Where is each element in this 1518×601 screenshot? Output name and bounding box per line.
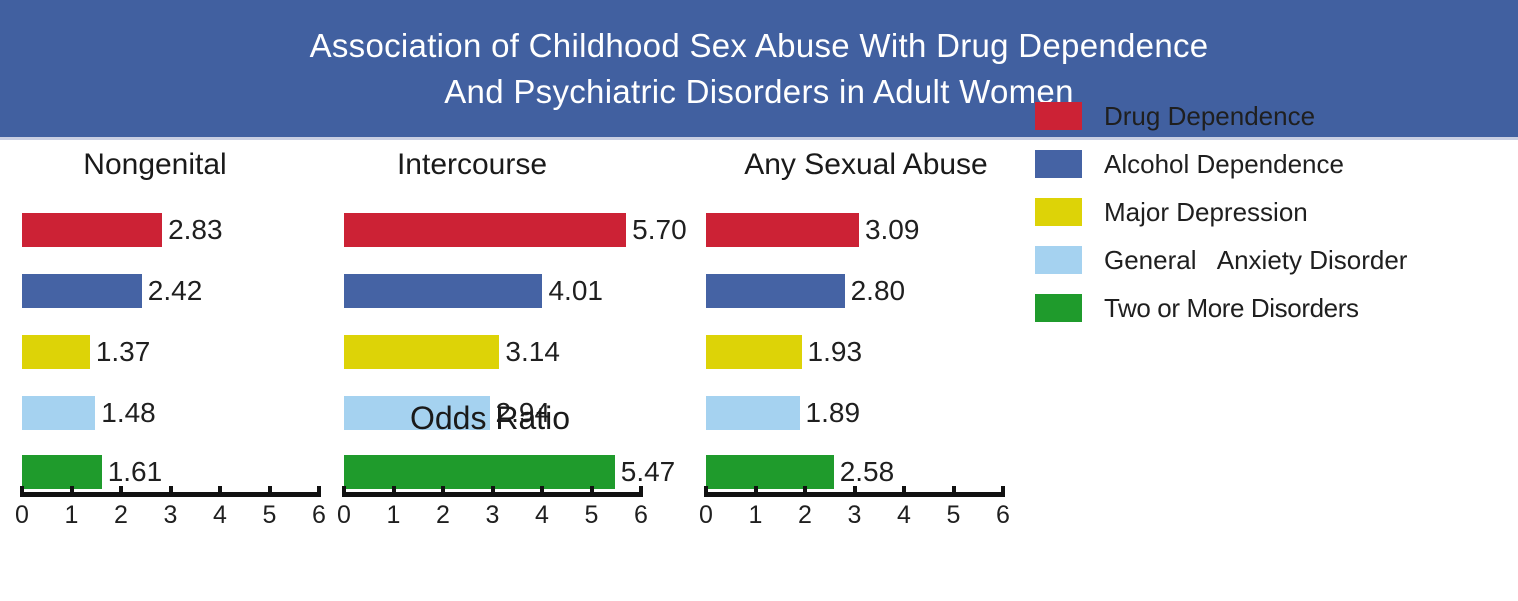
bar <box>344 455 615 489</box>
x-axis-label: Odds Ratio <box>410 400 570 437</box>
bar <box>344 213 626 247</box>
axis-tick-label: 1 <box>749 501 763 530</box>
bar <box>22 455 102 489</box>
bar-value-label: 1.37 <box>96 338 151 366</box>
bar-row: 2.58 <box>706 455 894 489</box>
axis-tick-label: 2 <box>114 501 128 530</box>
bar <box>22 396 95 430</box>
axis-tick <box>441 486 445 497</box>
axis-tick <box>754 486 758 497</box>
bar-row: 3.09 <box>706 213 919 247</box>
axis-tick-label: 5 <box>947 501 961 530</box>
axis-tick <box>392 486 396 497</box>
bar-row: 1.37 <box>22 335 150 369</box>
axis-tick-label: 5 <box>585 501 599 530</box>
axis-tick-label: 6 <box>996 501 1010 530</box>
legend-color-swatch <box>1035 294 1082 322</box>
legend-item-label: Major Depression <box>1104 199 1308 225</box>
axis-tick-label: 1 <box>65 501 79 530</box>
bar <box>344 274 542 308</box>
bar-value-label: 1.89 <box>806 399 861 427</box>
axis-tick <box>317 486 321 497</box>
bar <box>706 335 802 369</box>
bar <box>706 455 834 489</box>
axis-tick-label: 3 <box>486 501 500 530</box>
axis-tick-label: 5 <box>263 501 277 530</box>
legend-item-label: General Anxiety Disorder <box>1104 247 1407 273</box>
chart-title-line-1: Association of Childhood Sex Abuse With … <box>310 23 1209 69</box>
axis-tick <box>268 486 272 497</box>
axis-tick <box>853 486 857 497</box>
axis-tick <box>218 486 222 497</box>
bar <box>706 213 859 247</box>
bar-value-label: 2.58 <box>840 458 895 486</box>
bar <box>22 274 142 308</box>
legend-color-swatch <box>1035 150 1082 178</box>
bar-row: 1.93 <box>706 335 862 369</box>
bar <box>22 213 162 247</box>
legend-item[interactable]: Alcohol Dependence <box>1035 140 1505 188</box>
bar-value-label: 2.42 <box>148 277 203 305</box>
legend-item-label: Two or More Disorders <box>1104 295 1359 321</box>
axis-tick-label: 4 <box>897 501 911 530</box>
bar-value-label: 5.70 <box>632 216 687 244</box>
axis-tick <box>70 486 74 497</box>
bar-row: 2.83 <box>22 213 223 247</box>
axis-tick-label: 4 <box>535 501 549 530</box>
axis-tick-label: 4 <box>213 501 227 530</box>
bar-row: 1.61 <box>22 455 162 489</box>
axis-tick-label: 0 <box>337 501 351 530</box>
axis-tick <box>20 486 24 497</box>
bar-row: 5.70 <box>344 213 687 247</box>
bar <box>706 396 800 430</box>
axis-tick-label: 1 <box>387 501 401 530</box>
axis-tick-label: 6 <box>634 501 648 530</box>
bar-row: 2.80 <box>706 274 905 308</box>
axis-tick <box>540 486 544 497</box>
bar <box>344 335 499 369</box>
x-axis: 0123456 <box>22 492 319 528</box>
x-axis: 0123456 <box>344 492 641 528</box>
axis-tick <box>119 486 123 497</box>
bar-value-label: 1.61 <box>108 458 163 486</box>
bar-row: 1.48 <box>22 396 156 430</box>
axis-tick-label: 0 <box>699 501 713 530</box>
bar-value-label: 2.83 <box>168 216 223 244</box>
bar-value-label: 5.47 <box>621 458 676 486</box>
axis-tick <box>1001 486 1005 497</box>
bar-value-label: 3.14 <box>505 338 560 366</box>
bar-value-label: 2.80 <box>851 277 906 305</box>
axis-tick <box>952 486 956 497</box>
axis-tick <box>704 486 708 497</box>
bar-row: 5.47 <box>344 455 675 489</box>
axis-tick <box>491 486 495 497</box>
axis-tick-label: 2 <box>436 501 450 530</box>
axis-tick-label: 3 <box>164 501 178 530</box>
bar <box>22 335 90 369</box>
legend-color-swatch <box>1035 198 1082 226</box>
legend-item[interactable]: Two or More Disorders <box>1035 284 1505 332</box>
bar <box>706 274 845 308</box>
chart-legend: Drug DependenceAlcohol DependenceMajor D… <box>1035 92 1505 332</box>
bar-row: 1.89 <box>706 396 860 430</box>
legend-item[interactable]: Drug Dependence <box>1035 92 1505 140</box>
bar-value-label: 1.93 <box>808 338 863 366</box>
axis-tick <box>902 486 906 497</box>
bar-value-label: 3.09 <box>865 216 920 244</box>
axis-tick <box>590 486 594 497</box>
legend-item[interactable]: Major Depression <box>1035 188 1505 236</box>
axis-tick <box>169 486 173 497</box>
legend-item[interactable]: General Anxiety Disorder <box>1035 236 1505 284</box>
axis-tick-label: 0 <box>15 501 29 530</box>
axis-tick <box>639 486 643 497</box>
bar-row: 3.14 <box>344 335 560 369</box>
legend-item-label: Alcohol Dependence <box>1104 151 1344 177</box>
axis-tick-label: 6 <box>312 501 326 530</box>
bar-value-label: 1.48 <box>101 399 156 427</box>
axis-tick <box>803 486 807 497</box>
bar-row: 4.01 <box>344 274 603 308</box>
axis-tick <box>342 486 346 497</box>
axis-tick-label: 3 <box>848 501 862 530</box>
x-axis: 0123456 <box>706 492 1003 528</box>
chart-title-line-2: And Psychiatric Disorders in Adult Women <box>444 69 1073 115</box>
axis-tick-label: 2 <box>798 501 812 530</box>
legend-color-swatch <box>1035 246 1082 274</box>
legend-color-swatch <box>1035 102 1082 130</box>
chart-figure: Association of Childhood Sex Abuse With … <box>0 0 1518 601</box>
bar-row: 2.42 <box>22 274 202 308</box>
legend-item-label: Drug Dependence <box>1104 103 1315 129</box>
bar-value-label: 4.01 <box>548 277 603 305</box>
